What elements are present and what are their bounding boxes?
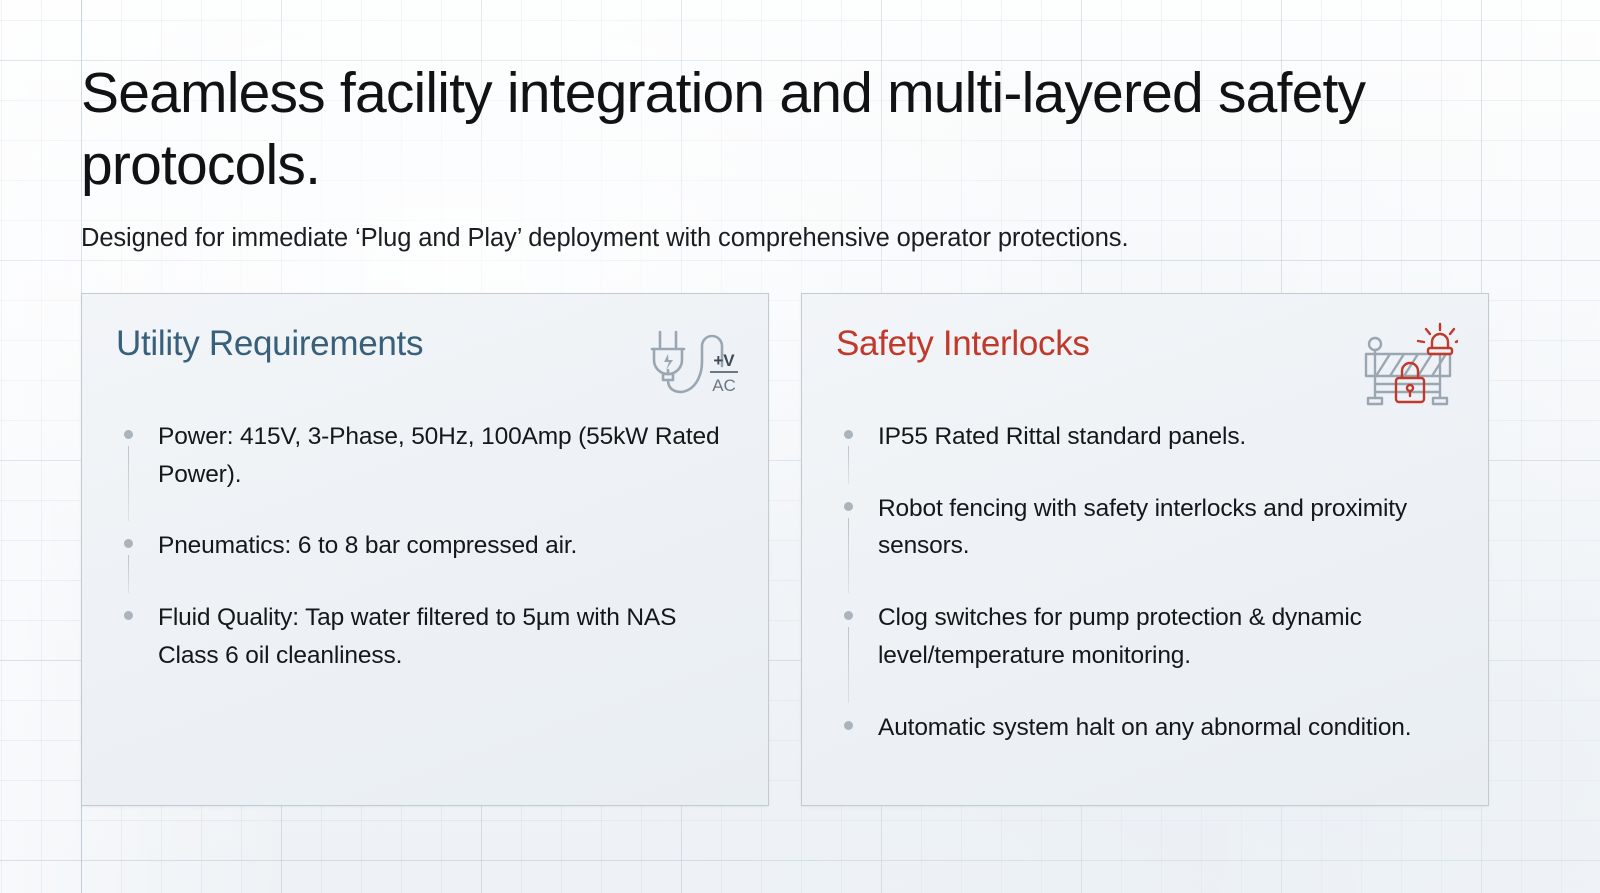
list-item: Power: 415V, 3-Phase, 50Hz, 100Amp (55kW… xyxy=(116,418,734,493)
list-item: Robot fencing with safety interlocks and… xyxy=(836,490,1454,565)
list-item-text: Automatic system halt on any abnormal co… xyxy=(878,714,1411,741)
page-title: Seamless facility integration and multi-… xyxy=(81,58,1401,202)
list-item-text: Pneumatics: 6 to 8 bar compressed air. xyxy=(158,532,577,559)
bullet-dot-icon xyxy=(844,502,853,511)
bullet-connector-line xyxy=(848,446,849,484)
card-utility-requirements: Utility Requirements +V AC xyxy=(81,293,769,806)
bullet-connector-line xyxy=(128,555,129,593)
bullet-dot-icon xyxy=(124,430,133,439)
bullet-connector-line xyxy=(848,627,849,702)
list-item-text: Fluid Quality: Tap water filtered to 5µm… xyxy=(158,604,676,669)
list-item-text: Robot fencing with safety interlocks and… xyxy=(878,495,1407,560)
cards-row: Utility Requirements +V AC xyxy=(81,293,1489,806)
list-item-text: IP55 Rated Rittal standard panels. xyxy=(878,423,1246,450)
list-item: Automatic system halt on any abnormal co… xyxy=(836,709,1454,747)
list-item: Pneumatics: 6 to 8 bar compressed air. xyxy=(116,527,734,565)
card-header: Utility Requirements +V AC xyxy=(116,326,734,412)
icon-label-numerator: +V xyxy=(713,351,735,370)
bullet-dot-icon xyxy=(844,430,853,439)
safety-barrier-lock-icon xyxy=(1362,322,1458,413)
list-item-text: Clog switches for pump protection & dyna… xyxy=(878,604,1362,669)
utility-bullet-list: Power: 415V, 3-Phase, 50Hz, 100Amp (55kW… xyxy=(116,418,734,675)
bullet-connector-line xyxy=(128,446,129,521)
list-item: Fluid Quality: Tap water filtered to 5µm… xyxy=(116,599,734,674)
bullet-dot-icon xyxy=(124,539,133,548)
card-title-safety-interlocks: Safety Interlocks xyxy=(836,326,1090,363)
safety-bullet-list: IP55 Rated Rittal standard panels. Robot… xyxy=(836,418,1454,746)
power-plug-ac-icon: +V AC xyxy=(646,322,738,411)
list-item: Clog switches for pump protection & dyna… xyxy=(836,599,1454,674)
page-subtitle: Designed for immediate ‘Plug and Play’ d… xyxy=(81,224,1501,253)
slide-header: Seamless facility integration and multi-… xyxy=(81,58,1501,253)
bullet-dot-icon xyxy=(124,611,133,620)
list-item-text: Power: 415V, 3-Phase, 50Hz, 100Amp (55kW… xyxy=(158,423,719,488)
card-header: Safety Interlocks xyxy=(836,326,1454,412)
list-item: IP55 Rated Rittal standard panels. xyxy=(836,418,1454,456)
bullet-connector-line xyxy=(848,518,849,593)
icon-label-denominator: AC xyxy=(712,376,736,395)
card-title-utility-requirements: Utility Requirements xyxy=(116,326,423,363)
bullet-dot-icon xyxy=(844,611,853,620)
bullet-dot-icon xyxy=(844,721,853,730)
card-safety-interlocks: Safety Interlocks xyxy=(801,293,1489,806)
